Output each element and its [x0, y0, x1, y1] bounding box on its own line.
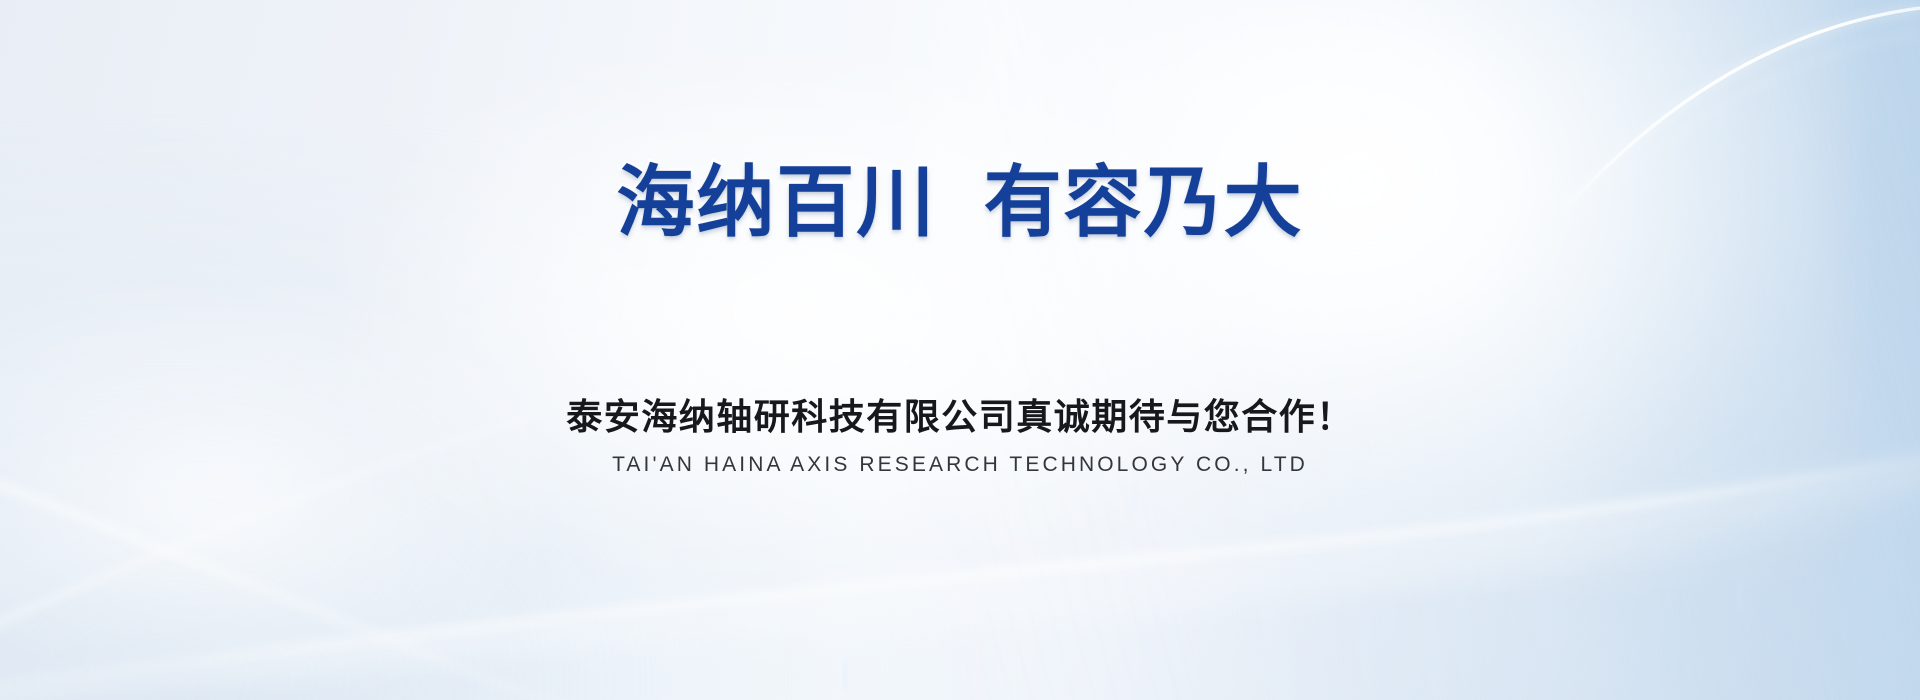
banner-headline: 海纳百川 有容乃大	[0, 160, 1920, 244]
banner-content: 海纳百川 有容乃大 泰安海纳轴研科技有限公司真诚期待与您合作！ TAI'AN H…	[0, 0, 1920, 700]
banner-subtitle-english: TAI'AN HAINA AXIS RESEARCH TECHNOLOGY CO…	[0, 452, 1920, 477]
banner-subtitle-chinese: 泰安海纳轴研科技有限公司真诚期待与您合作！	[0, 395, 1920, 438]
hero-banner: 海纳百川 有容乃大 泰安海纳轴研科技有限公司真诚期待与您合作！ TAI'AN H…	[0, 0, 1920, 700]
